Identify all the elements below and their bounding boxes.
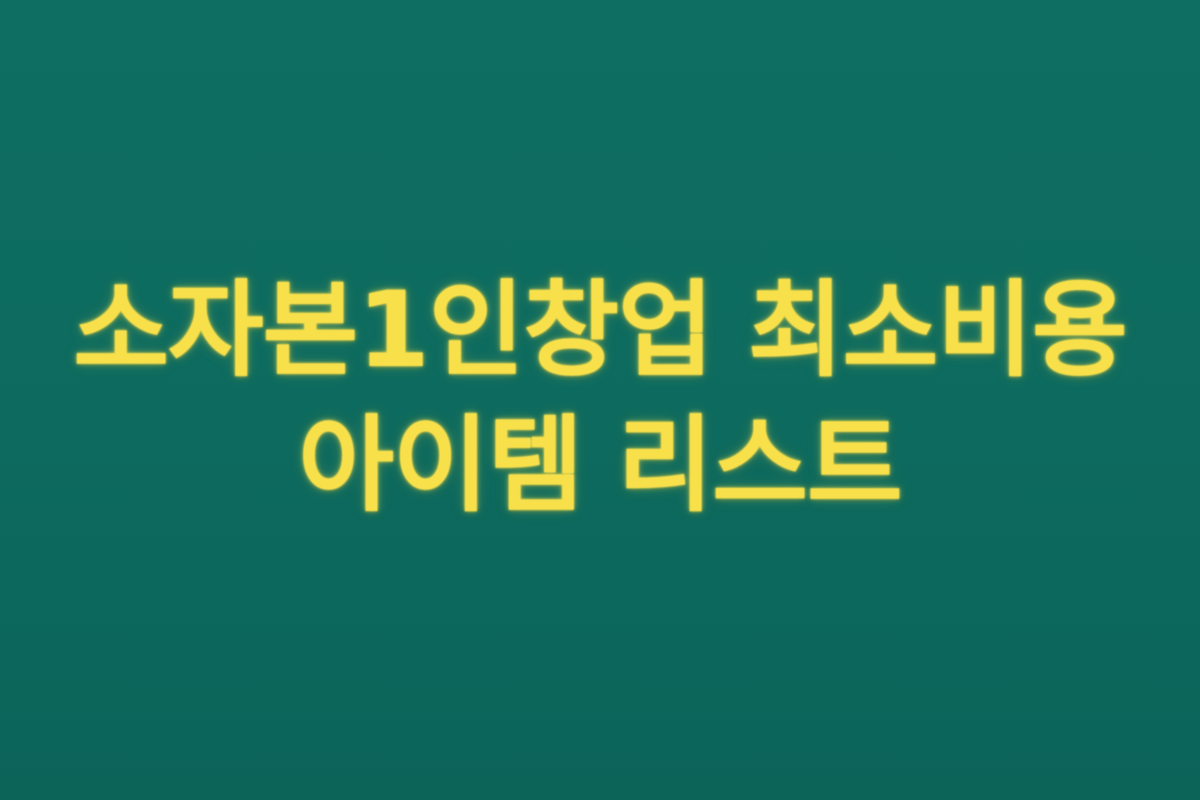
banner-title-line-1: 소자본1인창업 최소비용 — [40, 263, 1160, 398]
banner-title-line-2: 아이템 리스트 — [40, 398, 1160, 533]
thumbnail-banner: 소자본1인창업 최소비용 아이템 리스트 — [0, 0, 1200, 800]
banner-title-block: 소자본1인창업 최소비용 아이템 리스트 — [40, 263, 1160, 533]
